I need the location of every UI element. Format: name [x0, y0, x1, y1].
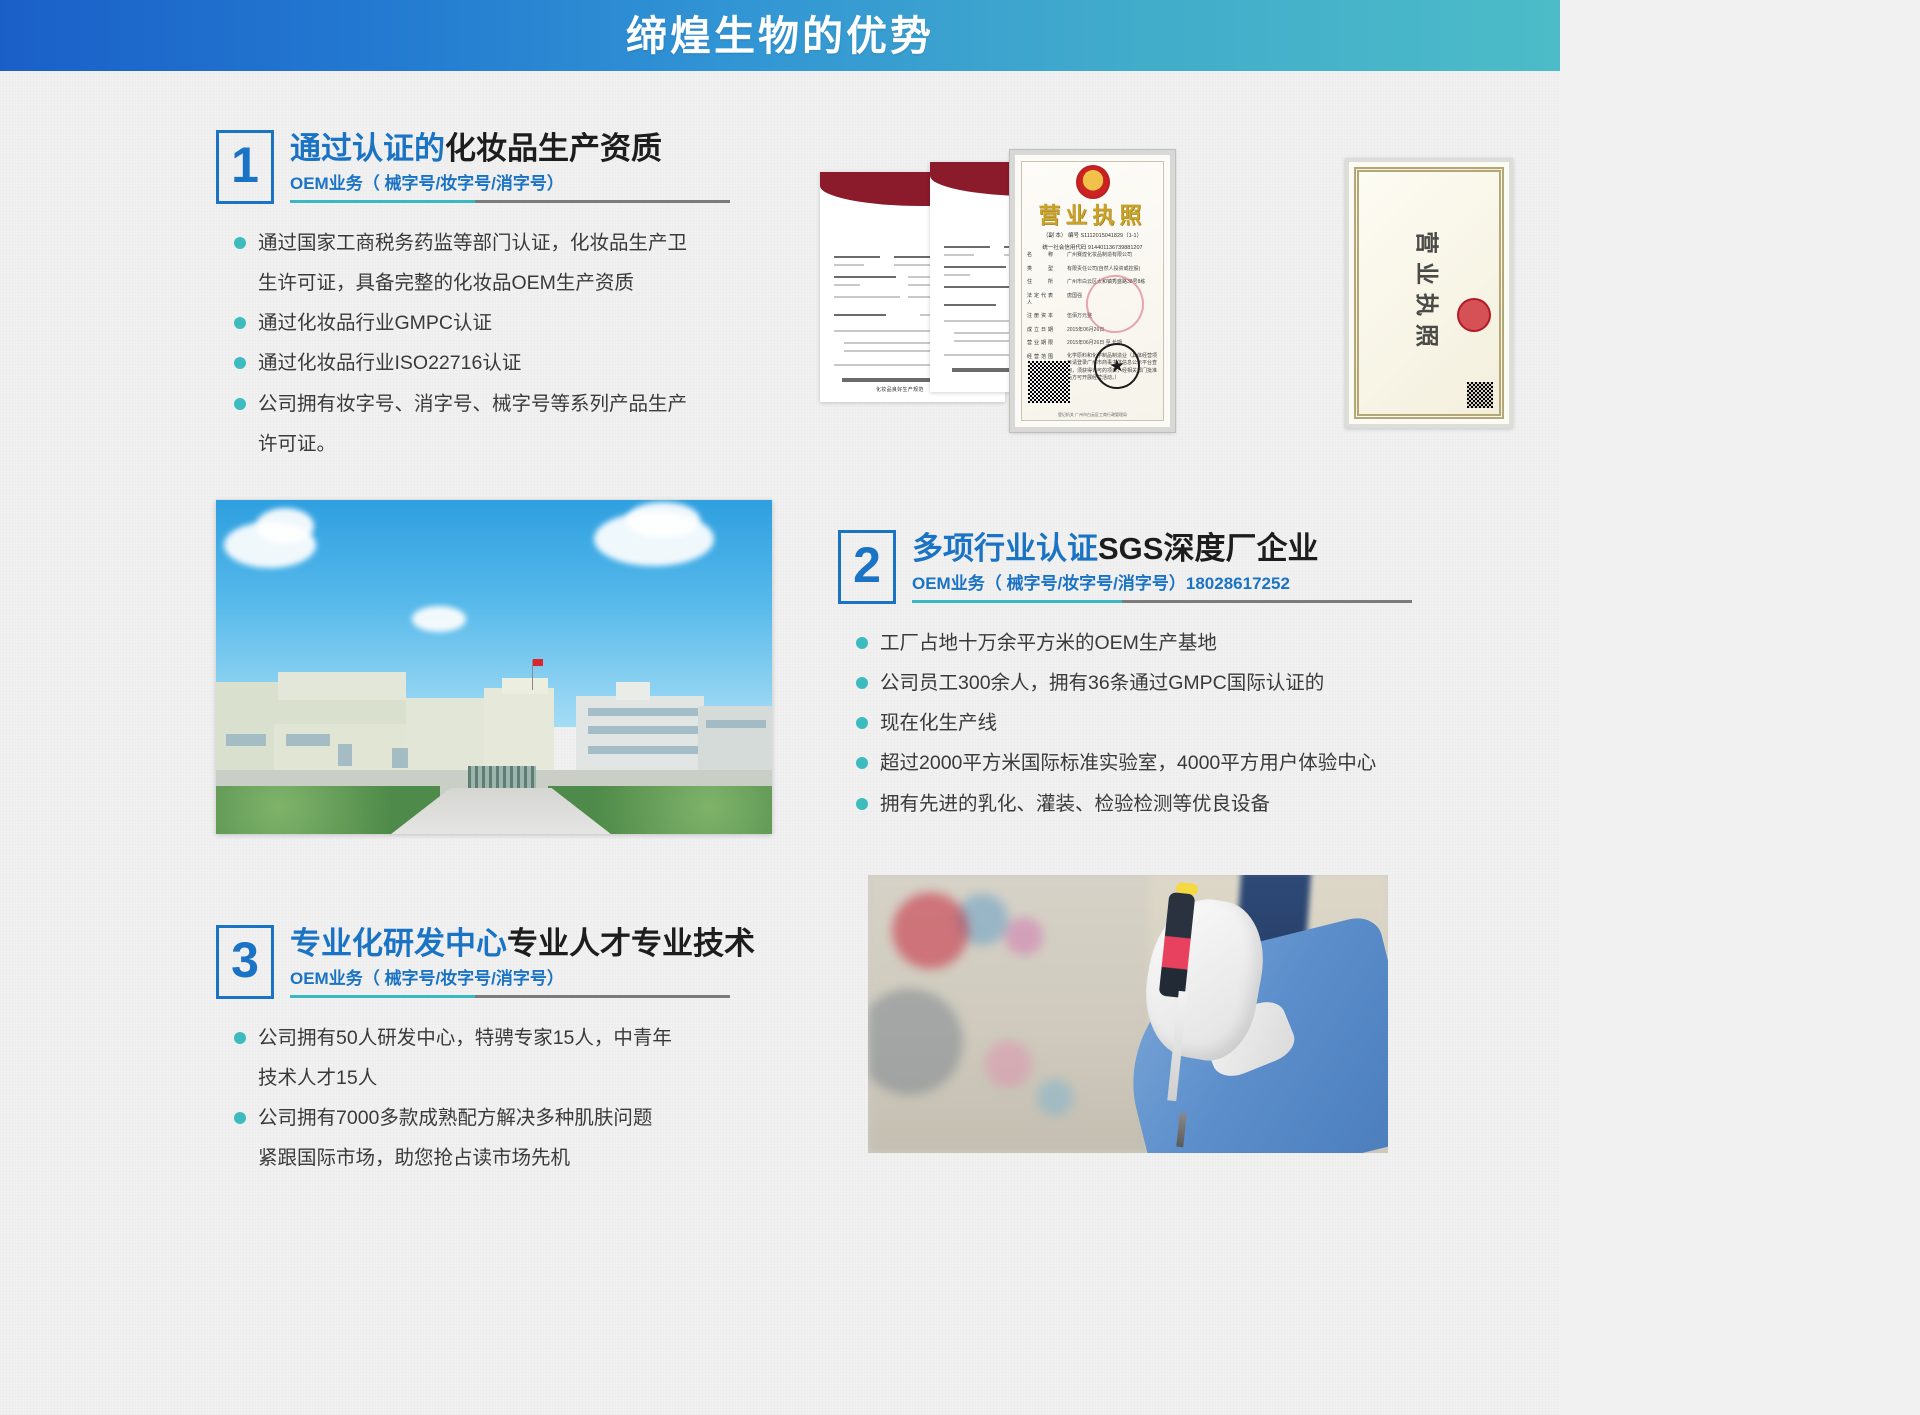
list-item-text: 紧跟国际市场，助您抢占读市场先机 [258, 1141, 570, 1175]
license-field-value: 唐国强 [1067, 292, 1082, 306]
list-item: 通过国家工商税务药监等部门认证，化妆品生产卫 [234, 226, 736, 260]
national-emblem-icon [1076, 165, 1110, 199]
license-field-key: 住 所 [1027, 278, 1061, 285]
section-1-title-dark: 化妆品生产资质 [445, 131, 662, 166]
bullet-dot-icon [234, 1112, 246, 1124]
license-field-row: 营业期限 2015年06月26日 至 长期 [1027, 339, 1160, 346]
list-item-text: 公司拥有50人研发中心，特骋专家15人，中青年 [258, 1021, 672, 1055]
page-title: 缔煌生物的优势 [626, 16, 934, 57]
section-3-title-blue: 专业化研发中心 [290, 926, 507, 961]
section-3: 3 专业化研发中心专业人才专业技术 OEM业务（ 械字号/妆字号/消字号） 公司… [216, 925, 736, 1182]
license-field-value: 广州赛煌化妆品制造有限公司 [1067, 251, 1132, 258]
list-item: 工厂占地十万余平方米的OEM生产基地 [856, 626, 1398, 660]
section-2-title-blue: 多项行业认证 [912, 531, 1098, 566]
section-1-title: 通过认证的化妆品生产资质 [290, 132, 730, 167]
bullet-dot-icon [234, 357, 246, 369]
factory-building [698, 706, 772, 778]
flag-icon [533, 659, 543, 666]
factory-building [484, 688, 554, 778]
license-field-key: 法定代表人 [1027, 292, 1061, 306]
cloud-shape [626, 502, 700, 538]
page-right-margin [1560, 0, 1920, 1415]
section-2: 2 多项行业认证SGS深度厂企业 OEM业务（ 械字号/妆字号/消字号）1802… [838, 530, 1398, 827]
list-item-text: 公司拥有7000多款成熟配方解决多种肌肤问题 [258, 1101, 652, 1135]
factory-exterior-photo [216, 500, 772, 834]
license-field-key: 成立日期 [1027, 326, 1061, 333]
bullet-dot-icon [234, 398, 246, 410]
license-title: 营业执照 [1015, 205, 1170, 227]
list-item-continuation: 生许可证，具备完整的化妆品OEM生产资质 [234, 266, 736, 300]
section-2-subtitle: OEM业务（ 械字号/妆字号/消字号）18028617252 [912, 574, 1412, 594]
bullet-dot-icon [856, 757, 868, 769]
list-item-continuation: 许可证。 [234, 427, 736, 461]
section-2-number-box: 2 [838, 530, 896, 604]
laboratory-photo [868, 875, 1388, 1153]
bullet-dot-icon [856, 677, 868, 689]
list-item-text: 通过化妆品行业GMPC认证 [258, 306, 492, 340]
list-item: 通过化妆品行业ISO22716认证 [234, 346, 736, 380]
list-item: 超过2000平方米国际标准实验室，4000平方用户体验中心 [856, 746, 1398, 780]
page-canvas: 缔煌生物的优势 1 通过认证的化妆品生产资质 OEM业务（ 械字号/妆字号/消字… [0, 0, 1560, 1415]
qr-code-icon [1028, 361, 1070, 403]
section-1-rule [290, 200, 730, 203]
list-item: 公司拥有妆字号、消字号、械字号等系列产品生产 [234, 387, 736, 421]
list-item: 通过化妆品行业GMPC认证 [234, 306, 736, 340]
license-credit-code: 统一社会信用代码 914401136739881207 [1015, 243, 1170, 251]
license-field-key: 注册资本 [1027, 312, 1061, 319]
list-item-text: 拥有先进的乳化、灌装、检验检测等优良设备 [880, 787, 1270, 821]
qr-code-icon [1467, 382, 1493, 408]
list-item: 现在化生产线 [856, 706, 1398, 740]
license-field-row: 类 型 有限责任公司(自然人投资或控股) [1027, 265, 1160, 272]
page-banner: 缔煌生物的优势 [0, 0, 1560, 71]
license-field-key: 营业期限 [1027, 339, 1061, 346]
list-item-text: 公司员工300余人，拥有36条通过GMPC国际认证的 [880, 666, 1324, 700]
section-2-header: 2 多项行业认证SGS深度厂企业 OEM业务（ 械字号/妆字号/消字号）1802… [838, 530, 1398, 604]
section-3-rule [290, 995, 730, 998]
list-item: 拥有先进的乳化、灌装、检验检测等优良设备 [856, 787, 1398, 821]
section-3-header: 3 专业化研发中心专业人才专业技术 OEM业务（ 械字号/妆字号/消字号） [216, 925, 736, 999]
list-item-text: 技术人才15人 [258, 1061, 377, 1095]
license-copy-label: （副 本） [1043, 233, 1067, 239]
section-1-bullet-list: 通过国家工商税务药监等部门认证，化妆品生产卫 生许可证，具备完整的化妆品OEM生… [234, 226, 736, 461]
list-item: 公司拥有50人研发中心，特骋专家15人，中青年 [234, 1021, 736, 1055]
list-item-text: 公司拥有妆字号、消字号、械字号等系列产品生产 [258, 387, 687, 421]
factory-building [278, 672, 406, 700]
section-3-bullet-list: 公司拥有50人研发中心，特骋专家15人，中青年 技术人才15人 公司拥有7000… [234, 1021, 736, 1176]
business-license: 营业执照 （副 本） 编号 S1112015041829（1-1） 统一社会信用… [1010, 150, 1175, 432]
license-field-key: 类 型 [1027, 265, 1061, 272]
section-1-number: 1 [231, 140, 259, 190]
list-item-text: 通过化妆品行业ISO22716认证 [258, 346, 521, 380]
section-1-header: 1 通过认证的化妆品生产资质 OEM业务（ 械字号/妆字号/消字号） [216, 130, 736, 204]
list-item-text: 许可证。 [258, 427, 336, 461]
section-2-title: 多项行业认证SGS深度厂企业 [912, 532, 1412, 567]
factory-building [616, 682, 650, 700]
list-item-text: 超过2000平方米国际标准实验室，4000平方用户体验中心 [880, 746, 1376, 780]
list-item-continuation: 紧跟国际市场，助您抢占读市场先机 [234, 1141, 736, 1175]
section-1-number-box: 1 [216, 130, 274, 204]
section-3-heading-text: 专业化研发中心专业人才专业技术 OEM业务（ 械字号/妆字号/消字号） [290, 925, 755, 999]
section-2-rule [912, 600, 1412, 603]
section-1-title-blue: 通过认证的 [290, 131, 445, 166]
factory-building [502, 678, 548, 694]
section-2-title-dark: SGS深度厂企业 [1098, 531, 1318, 566]
cloud-shape [256, 508, 314, 544]
section-3-title: 专业化研发中心专业人才专业技术 [290, 927, 755, 962]
business-license-rotated: 营业执照 [1345, 158, 1513, 428]
section-1-subtitle: OEM业务（ 械字号/妆字号/消字号） [290, 174, 730, 194]
section-2-number: 2 [853, 540, 881, 590]
license-title-rotated: 营业执照 [1412, 231, 1446, 355]
section-3-number: 3 [231, 935, 259, 985]
list-item: 公司员工300余人，拥有36条通过GMPC国际认证的 [856, 666, 1398, 700]
section-3-subtitle: OEM业务（ 械字号/妆字号/消字号） [290, 969, 755, 989]
section-1-heading-text: 通过认证的化妆品生产资质 OEM业务（ 械字号/妆字号/消字号） [290, 130, 730, 204]
section-2-heading-text: 多项行业认证SGS深度厂企业 OEM业务（ 械字号/妆字号/消字号）180286… [912, 530, 1412, 604]
list-item-continuation: 技术人才15人 [234, 1061, 736, 1095]
bullet-dot-icon [856, 637, 868, 649]
license-field-value: 有限责任公司(自然人投资或控股) [1067, 265, 1140, 272]
bullet-dot-icon [234, 317, 246, 329]
section-2-bullet-list: 工厂占地十万余平方米的OEM生产基地 公司员工300余人，拥有36条通过GMPC… [856, 626, 1398, 821]
cloud-shape [412, 606, 466, 632]
certificates-group: 化妆品良好生产规范 [820, 140, 1560, 440]
license-number: 编号 S1112015041829（1-1） [1068, 233, 1142, 239]
license-copy-mark: （副 本） 编号 S1112015041829（1-1） [1015, 231, 1170, 239]
bullet-dot-icon [856, 798, 868, 810]
list-item-text: 工厂占地十万余平方米的OEM生产基地 [880, 626, 1217, 660]
license-registrar: 登记机关 广州市白云区工商行政管理局 [1015, 412, 1170, 418]
license-field-row: 成立日期 2015年06月26日 [1027, 326, 1160, 333]
bullet-dot-icon [234, 237, 246, 249]
license-field-key: 名 称 [1027, 251, 1061, 258]
gmp-standard-cn: 化妆品良好生产规范 [876, 386, 924, 393]
bullet-dot-icon [234, 1032, 246, 1044]
bullet-dot-icon [856, 717, 868, 729]
section-3-title-dark: 专业人才专业技术 [507, 926, 755, 961]
section-1: 1 通过认证的化妆品生产资质 OEM业务（ 械字号/妆字号/消字号） 通过国家工… [216, 130, 736, 467]
section-3-number-box: 3 [216, 925, 274, 999]
list-item: 公司拥有7000多款成熟配方解决多种肌肤问题 [234, 1101, 736, 1135]
list-item-text: 通过国家工商税务药监等部门认证，化妆品生产卫 [258, 226, 687, 260]
list-item-text: 生许可证，具备完整的化妆品OEM生产资质 [258, 266, 634, 300]
red-seal-icon [1457, 298, 1491, 332]
license-field-row: 名 称 广州赛煌化妆品制造有限公司 [1027, 251, 1160, 258]
list-item-text: 现在化生产线 [880, 706, 997, 740]
